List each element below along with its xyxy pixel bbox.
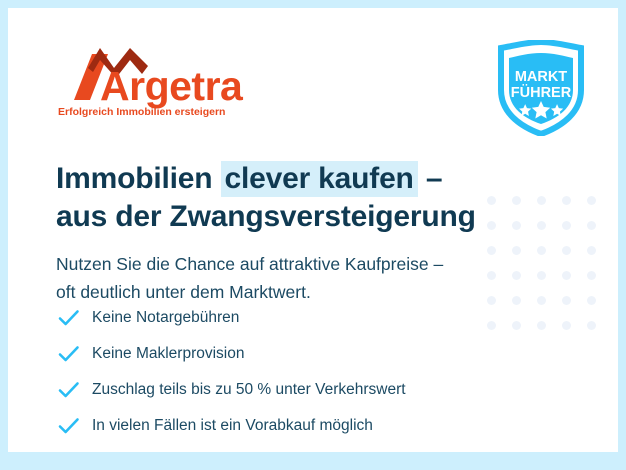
subtitle-line-2: oft deutlich unter dem Marktwert. (56, 278, 576, 306)
benefit-label: In vielen Fällen ist ein Vorabkauf mögli… (92, 417, 373, 435)
badge-line2: FÜHRER (511, 84, 572, 101)
market-leader-badge: MARKT FÜHRER (495, 40, 587, 136)
headline-text-before: Immobilien (56, 162, 221, 195)
decoration-dot (587, 271, 596, 280)
benefit-item: Keine Maklerprovision (58, 339, 558, 369)
promo-banner: Argetra Erfolgreich Immobilien ersteiger… (0, 0, 626, 470)
benefit-item: Keine Notargebühren (58, 303, 558, 333)
badge-line1: MARKT (515, 69, 567, 85)
benefit-item: Zuschlag teils bis zu 50 % unter Verkehr… (58, 375, 558, 405)
logo-tagline: Erfolgreich Immobilien ersteigern (58, 106, 225, 118)
benefit-label: Zuschlag teils bis zu 50 % unter Verkehr… (92, 381, 406, 399)
decoration-dot (562, 321, 571, 330)
subtitle-line-1: Nutzen Sie die Chance auf attraktive Kau… (56, 250, 576, 278)
argetra-logo: Argetra Erfolgreich Immobilien ersteiger… (56, 44, 266, 120)
benefit-label: Keine Maklerprovision (92, 345, 245, 363)
decoration-dot (587, 246, 596, 255)
headline: Immobilien clever kaufen – aus der Zwang… (56, 160, 576, 237)
benefit-label: Keine Notargebühren (92, 309, 239, 327)
check-icon (58, 381, 92, 399)
headline-highlight: clever kaufen (221, 161, 418, 197)
svg-text:Argetra: Argetra (100, 63, 244, 109)
headline-line-1: Immobilien clever kaufen – (56, 161, 442, 197)
check-icon (58, 417, 92, 435)
decoration-dot (587, 221, 596, 230)
decoration-dot (587, 321, 596, 330)
subtitle: Nutzen Sie die Chance auf attraktive Kau… (56, 250, 576, 307)
headline-line-2: aus der Zwangsversteigerung (56, 200, 476, 233)
banner-canvas: Argetra Erfolgreich Immobilien ersteiger… (8, 8, 618, 452)
headline-text-after: – (418, 162, 443, 195)
decoration-dot (587, 196, 596, 205)
check-icon (58, 345, 92, 363)
check-icon (58, 309, 92, 327)
benefits-list: Keine NotargebührenKeine Maklerprovision… (58, 303, 558, 447)
benefit-item: In vielen Fällen ist ein Vorabkauf mögli… (58, 411, 558, 441)
decoration-dot (587, 296, 596, 305)
